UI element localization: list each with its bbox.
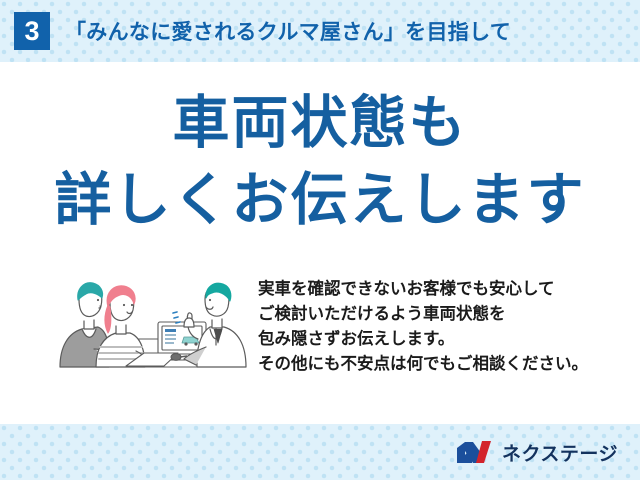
promotional-banner: 3 「みんなに愛されるクルマ屋さん」を目指して 車両状態も 詳しくお伝えします <box>0 0 640 480</box>
header-title: 「みんなに愛されるクルマ屋さん」を目指して <box>65 16 511 46</box>
header-content: 3 「みんなに愛されるクルマ屋さん」を目指して <box>0 0 640 62</box>
footer-band: ネクステージ <box>0 424 640 480</box>
header-band: 3 「みんなに愛されるクルマ屋さん」を目指して <box>0 0 640 62</box>
body-copy-line-4: その他にも不安点は何でもご相談ください。 <box>258 352 618 377</box>
step-number-badge: 3 <box>14 12 50 50</box>
body-copy-line-3: 包み隠さずお伝えします。 <box>258 327 618 352</box>
headline-line-1: 車両状態も <box>0 95 640 152</box>
body-copy-line-1: 実車を確認できないお客様でも安心して <box>258 277 618 302</box>
headline-line-2: 詳しくお伝えします <box>0 172 640 229</box>
staff-member <box>184 283 246 367</box>
consultation-illustration <box>46 267 256 387</box>
emphasis-marks <box>173 312 180 323</box>
nextage-n-logo-icon <box>455 439 495 466</box>
brand-logo: ネクステージ <box>455 424 618 480</box>
body-copy: 実車を確認できないお客様でも安心して ご検討いただけるよう車両状態を 包み隠さず… <box>258 277 618 377</box>
body-copy-line-2: ご検討いただけるよう車両状態を <box>258 302 618 327</box>
consultation-illustration-svg <box>46 267 256 387</box>
brand-logo-text: ネクステージ <box>502 439 618 466</box>
main-content: 車両状態も 詳しくお伝えします <box>0 62 640 424</box>
